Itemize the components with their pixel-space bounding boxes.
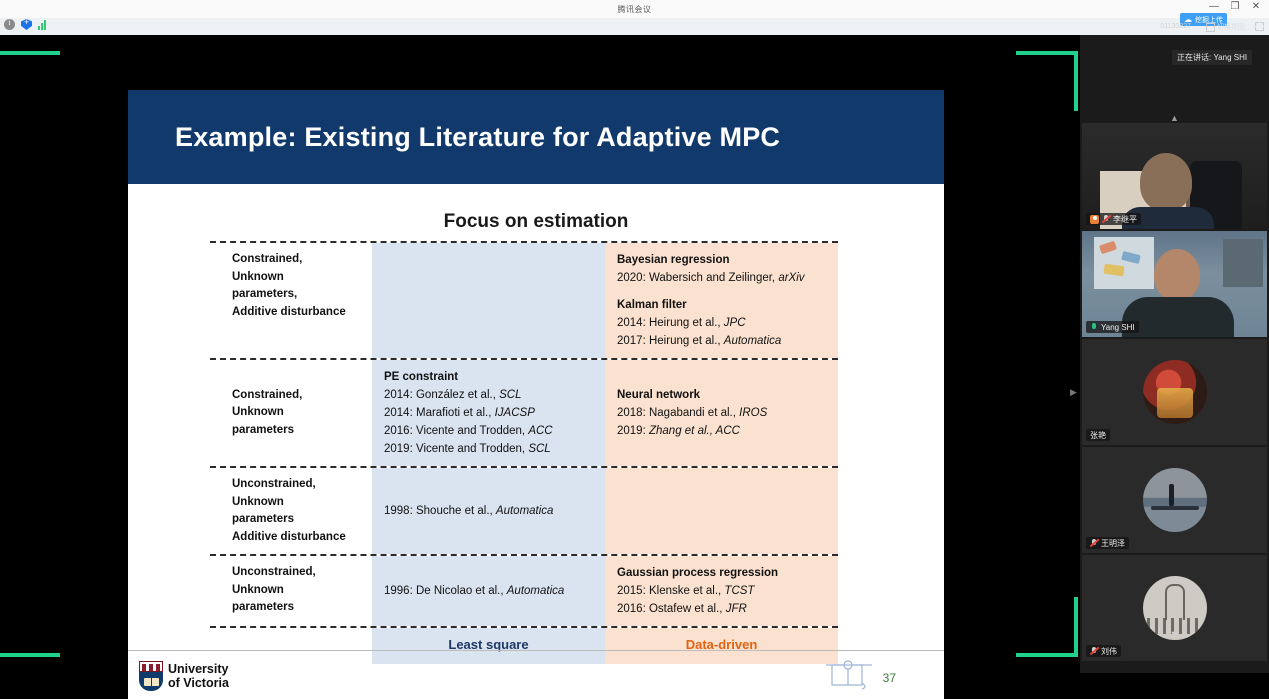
crest-icon: [139, 661, 163, 691]
entry-authors: Marafioti et al.,: [416, 407, 491, 419]
participant-tile[interactable]: 刘伟: [1082, 555, 1267, 661]
entry-venue: IJACSP: [495, 407, 535, 419]
entry-authors: González et al.,: [416, 389, 496, 401]
least-square-cell: [372, 243, 605, 358]
close-button[interactable]: ✕: [1250, 2, 1262, 12]
mic-muted-icon: [1090, 647, 1098, 655]
participant-tile[interactable]: 张艳: [1082, 339, 1267, 445]
condition-line: Unknown: [232, 404, 302, 422]
row-condition-cell: Constrained, Unknown parameters, Additiv…: [210, 243, 372, 358]
entry-venue: SCL: [499, 389, 521, 401]
data-driven-cell: Gaussian process regression 2015: Klensk…: [605, 556, 838, 626]
entry-venue: ACC: [528, 425, 552, 437]
reference-entry: 2016: Vicente and Trodden, ACC: [384, 422, 595, 440]
least-square-cell: 1998: Shouche et al., Automatica: [372, 468, 605, 554]
entry-venue: Automatica: [496, 505, 554, 517]
presentation-slide: Example: Existing Literature for Adaptiv…: [128, 90, 944, 699]
entry-venue: Automatica: [724, 335, 782, 347]
table-row: Constrained, Unknown parameters PE const…: [210, 358, 838, 466]
entry-year: 2019:: [617, 425, 646, 437]
condition-line: parameters: [232, 422, 302, 440]
fullscreen-icon[interactable]: [1255, 22, 1264, 31]
condition-line: Unknown: [232, 582, 372, 600]
reference-entry: 2015: Klenske et al., TCST: [617, 582, 828, 600]
reference-entry: 2018: Nagabandi et al., IROS: [617, 404, 767, 422]
condition-line: Constrained,: [232, 387, 302, 405]
shared-screen-stage: ▶ Example: Existing Literature for Adapt…: [0, 35, 1080, 673]
mic-muted-icon: [1090, 539, 1098, 547]
slide-page-number: 37: [883, 671, 896, 685]
entry-year: 2016:: [617, 603, 646, 615]
data-driven-cell: Bayesian regression 2020: Wabersich and …: [605, 243, 838, 358]
meeting-id-label: 01130827: [1160, 23, 1191, 30]
entry-year: 1996:: [384, 585, 413, 597]
grid-view-icon: [1206, 23, 1215, 32]
condition-line: Unconstrained,: [232, 476, 372, 494]
signal-icon[interactable]: [38, 19, 49, 30]
entry-authors: Zhang et al., ACC: [649, 425, 740, 437]
participant-tile[interactable]: 王明泽: [1082, 447, 1267, 553]
switch-view-button[interactable]: 切换视图: [1206, 22, 1245, 32]
entry-year: 2018:: [617, 407, 646, 419]
reference-entry: 2017: Heirung et al., Automatica: [617, 332, 828, 350]
window-titlebar: 腾讯会议 — ❐ ✕: [0, 0, 1269, 18]
entry-year: 2014:: [384, 407, 413, 419]
entry-venue: arXiv: [778, 272, 804, 284]
slide-title: Example: Existing Literature for Adaptiv…: [175, 122, 780, 153]
entry-authors: Shouche et al.,: [416, 505, 493, 517]
participant-name: 张艳: [1090, 430, 1106, 441]
reference-entry: 2014: Marafioti et al., IJACSP: [384, 404, 595, 422]
slide-header-bar: Example: Existing Literature for Adaptiv…: [128, 90, 944, 184]
scroll-down-chevron[interactable]: ▼: [1080, 629, 1269, 641]
entry-authors: Wabersich and Zeilinger,: [649, 272, 775, 284]
entry-venue: SCL: [528, 443, 550, 455]
table-row: Constrained, Unknown parameters, Additiv…: [210, 241, 838, 358]
entry-venue: IROS: [739, 407, 767, 419]
literature-table: Constrained, Unknown parameters, Additiv…: [210, 241, 838, 664]
reference-entry: 2014: Heirung et al., JPC: [617, 314, 828, 332]
participant-nameplate: 李继平: [1086, 213, 1141, 225]
participant-name: 李继平: [1113, 214, 1137, 225]
participant-panel: ▲ 李继平 Yang SHI: [1080, 35, 1269, 673]
entry-venue: JPC: [724, 317, 746, 329]
mic-active-icon: [1090, 323, 1098, 331]
reference-entry: 2020: Wabersich and Zeilinger, arXiv: [617, 269, 828, 287]
participant-name: 刘伟: [1101, 646, 1117, 657]
data-driven-cell: [605, 468, 838, 554]
avatar: [1143, 360, 1207, 424]
participant-tile[interactable]: Yang SHI: [1082, 231, 1267, 337]
entry-authors: Vicente and Trodden,: [416, 443, 525, 455]
participant-tile[interactable]: 李继平: [1082, 123, 1267, 229]
entry-year: 2016:: [384, 425, 413, 437]
row-condition-cell: Unconstrained, Unknown parameters: [210, 556, 372, 626]
active-speaker-banner: 正在讲话: Yang SHI: [1172, 50, 1252, 65]
method-heading: Kalman filter: [617, 296, 828, 314]
entry-venue: Automatica: [507, 585, 565, 597]
method-heading: Neural network: [617, 386, 767, 404]
participant-name: Yang SHI: [1101, 323, 1135, 332]
condition-line: Unknown: [232, 494, 372, 512]
meeting-app-window: 腾讯会议 — ❐ ✕ ☁ 挖掘上传 01130827 切换视图 ▶ Exampl…: [0, 0, 1269, 673]
method-heading: PE constraint: [384, 368, 595, 386]
participant-nameplate: 王明泽: [1086, 537, 1129, 549]
maximize-button[interactable]: ❐: [1229, 2, 1241, 12]
condition-line: Additive disturbance: [232, 304, 372, 322]
secondary-toolbar: [0, 18, 1269, 35]
control-loop-icon: [826, 657, 872, 691]
window-title: 腾讯会议: [618, 4, 652, 15]
university-name: University of Victoria: [168, 662, 229, 690]
entry-authors: De Nicolao et al.,: [416, 585, 504, 597]
entry-authors: Klenske et al.,: [649, 585, 721, 597]
reference-entry: 2016: Ostafew et al., JFR: [617, 600, 828, 618]
entry-authors: Heirung et al.,: [649, 317, 721, 329]
condition-line: Unknown: [232, 269, 372, 287]
participant-nameplate: 刘伟: [1086, 645, 1121, 657]
entry-year: 2014:: [384, 389, 413, 401]
info-icon[interactable]: [4, 19, 15, 30]
method-heading: Gaussian process regression: [617, 564, 828, 582]
row-condition-cell: Unconstrained, Unknown parameters Additi…: [210, 468, 372, 554]
reference-entry: 1998: Shouche et al., Automatica: [384, 502, 553, 520]
condition-line: parameters,: [232, 286, 372, 304]
university-line2: of Victoria: [168, 676, 229, 690]
entry-authors: Vicente and Trodden,: [416, 425, 525, 437]
switch-view-label: 切换视图: [1217, 22, 1245, 32]
condition-line: parameters: [232, 511, 372, 529]
window-controls: — ❐ ✕: [1208, 2, 1262, 12]
entry-year: 2015:: [617, 585, 646, 597]
entry-authors: Ostafew et al.,: [649, 603, 723, 615]
reference-entry: 1996: De Nicolao et al., Automatica: [384, 582, 564, 600]
host-icon: [1090, 215, 1099, 224]
slide-subtitle: Focus on estimation: [128, 211, 944, 233]
avatar: [1143, 468, 1207, 532]
condition-line: Additive disturbance: [232, 529, 372, 547]
entry-venue: TCST: [724, 585, 754, 597]
entry-year: 2020:: [617, 272, 646, 284]
table-row: Unconstrained, Unknown parameters Additi…: [210, 466, 838, 554]
condition-line: Constrained,: [232, 251, 372, 269]
condition-line: parameters: [232, 599, 372, 617]
entry-year: 1998:: [384, 505, 413, 517]
participant-nameplate: 张艳: [1086, 429, 1110, 441]
minimize-button[interactable]: —: [1208, 2, 1220, 12]
entry-authors: Nagabandi et al.,: [649, 407, 736, 419]
university-logo: University of Victoria: [139, 661, 229, 691]
method-heading: Bayesian regression: [617, 251, 828, 269]
entry-year: 2014:: [617, 317, 646, 329]
active-speaker-label: 正在讲话: Yang SHI: [1177, 52, 1247, 63]
table-row: Unconstrained, Unknown parameters 1996: …: [210, 554, 838, 628]
reference-entry: 2019: Zhang et al., ACC: [617, 422, 767, 440]
participant-name: 王明泽: [1101, 538, 1125, 549]
entry-year: 2017:: [617, 335, 646, 347]
least-square-cell: 1996: De Nicolao et al., Automatica: [372, 556, 605, 626]
reference-entry: 2014: González et al., SCL: [384, 386, 595, 404]
condition-line: Unconstrained,: [232, 564, 372, 582]
scroll-up-chevron[interactable]: ▲: [1080, 113, 1269, 123]
university-line1: University: [168, 662, 229, 676]
slide-footer: University of Victoria 37: [128, 650, 944, 699]
least-square-cell: PE constraint 2014: González et al., SCL…: [372, 360, 605, 466]
data-driven-cell: Neural network 2018: Nagabandi et al., I…: [605, 360, 838, 466]
participant-nameplate: Yang SHI: [1086, 321, 1139, 333]
reference-entry: 2019: Vicente and Trodden, SCL: [384, 440, 595, 458]
tray-icon-group: [4, 19, 49, 30]
panel-collapse-icon[interactable]: ▶: [1070, 387, 1077, 398]
mic-muted-icon: [1102, 215, 1110, 223]
entry-authors: Heirung et al.,: [649, 335, 721, 347]
entry-year: 2019:: [384, 443, 413, 455]
entry-venue: JFR: [726, 603, 747, 615]
shield-icon[interactable]: [21, 19, 32, 30]
row-condition-cell: Constrained, Unknown parameters: [210, 360, 372, 466]
